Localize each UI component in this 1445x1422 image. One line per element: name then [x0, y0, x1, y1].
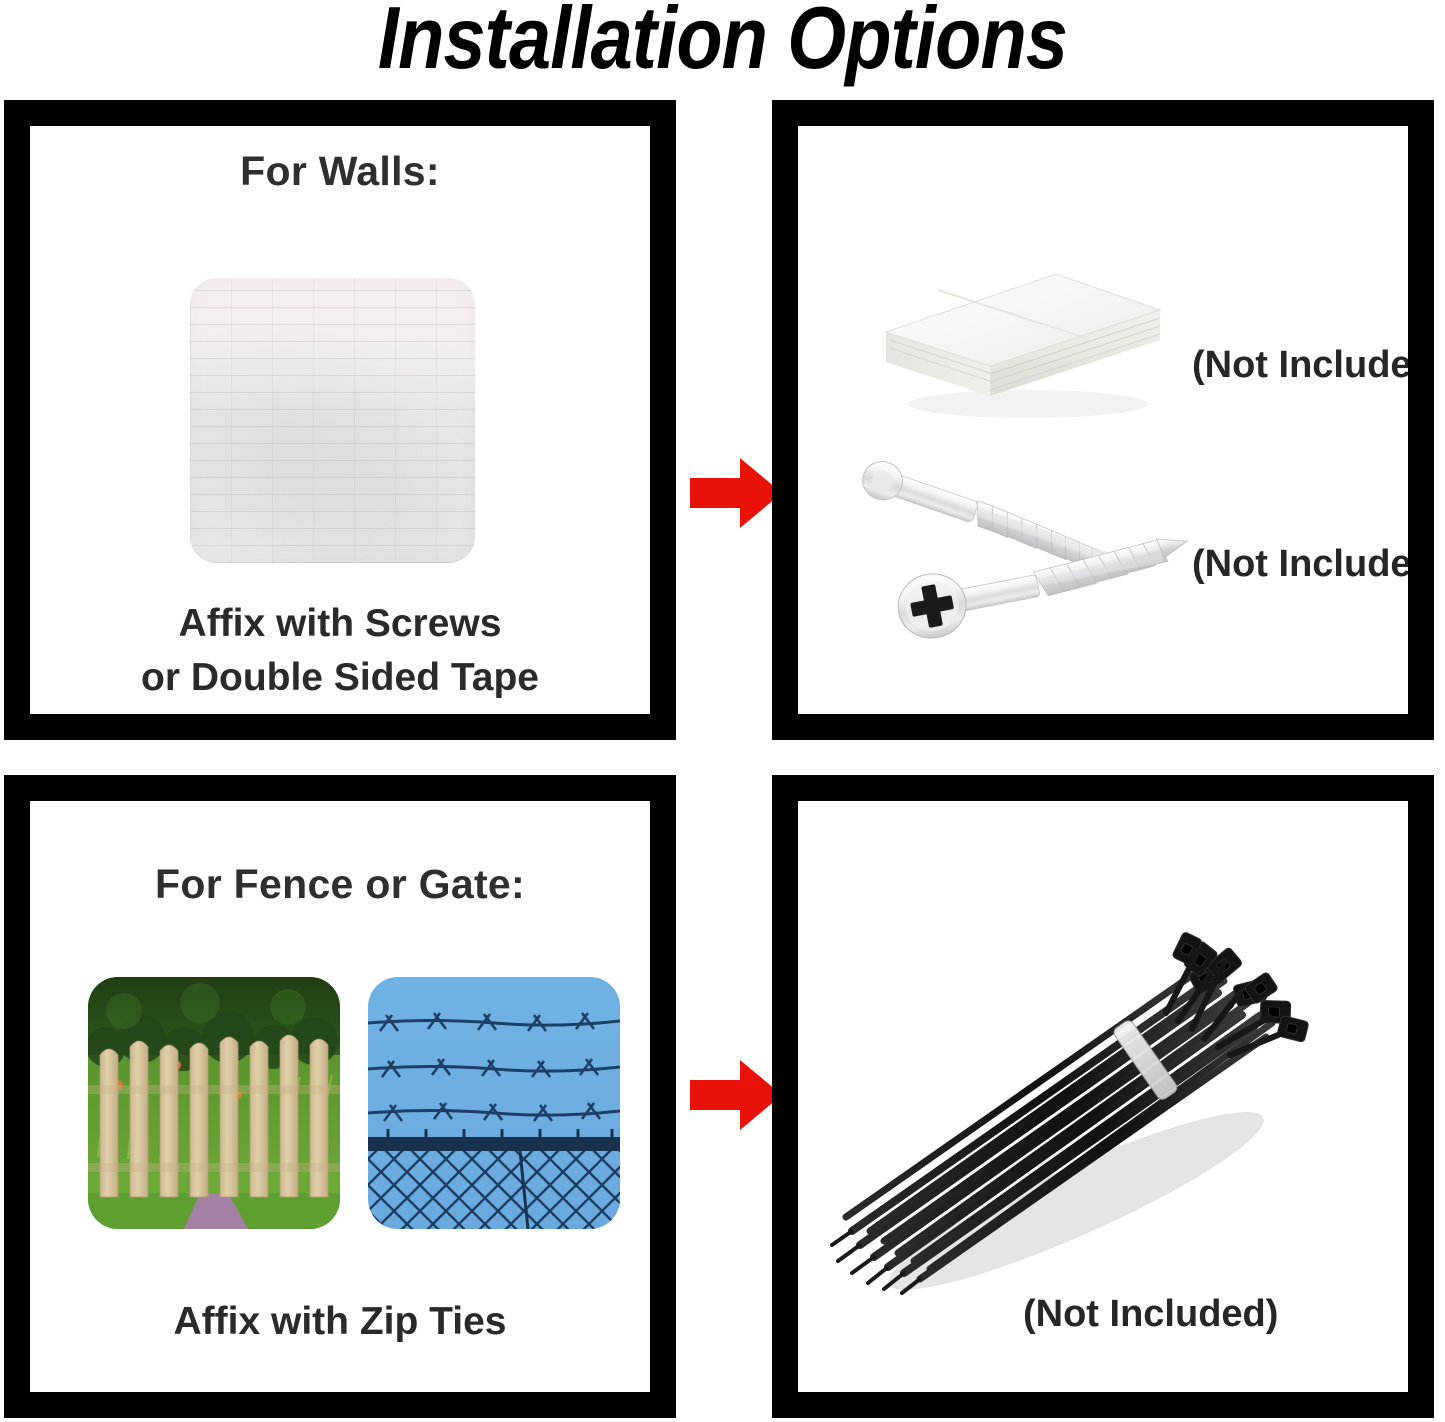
double-sided-tape-stack-icon	[878, 244, 1168, 424]
panel-for-fence-content: For Fence or Gate:	[30, 801, 650, 1392]
page-title: Installation Options	[101, 0, 1344, 82]
right-arrow-icon-top	[690, 456, 782, 530]
wooden-picket-fence-photo	[88, 977, 340, 1229]
panel-for-fence-or-gate: For Fence or Gate:	[4, 775, 676, 1418]
tape-not-included-note: (Not Included)	[1192, 344, 1434, 387]
right-arrow-icon-bottom	[690, 1058, 782, 1132]
panel-wall-hardware: (Not Included)	[772, 100, 1434, 740]
screws-icon	[832, 456, 1222, 666]
white-brick-wall-swatch	[190, 278, 475, 563]
installation-options-grid: For Walls: Affix with Screws or Double S…	[4, 100, 1434, 1418]
panel-for-walls-content: For Walls: Affix with Screws or Double S…	[30, 126, 650, 714]
screws-not-included-note: (Not Included)	[1192, 543, 1434, 586]
for-walls-heading: For Walls:	[30, 148, 650, 195]
for-fence-heading: For Fence or Gate:	[30, 861, 650, 908]
panel-wall-hardware-content: (Not Included)	[798, 126, 1408, 714]
black-zip-tie-bundle-icon	[826, 901, 1346, 1301]
for-fence-caption: Affix with Zip Ties	[30, 1296, 650, 1349]
panel-for-walls: For Walls: Affix with Screws or Double S…	[4, 100, 676, 740]
zip-ties-not-included-note: (Not Included)	[1023, 1293, 1278, 1336]
panel-zip-ties-content: (Not Included)	[798, 801, 1408, 1392]
for-walls-caption-line1: Affix with Screws	[30, 598, 650, 651]
panel-zip-ties: (Not Included)	[772, 775, 1434, 1418]
for-walls-caption-line2: or Double Sided Tape	[30, 652, 650, 705]
chain-link-barbed-wire-fence-photo	[368, 977, 620, 1229]
